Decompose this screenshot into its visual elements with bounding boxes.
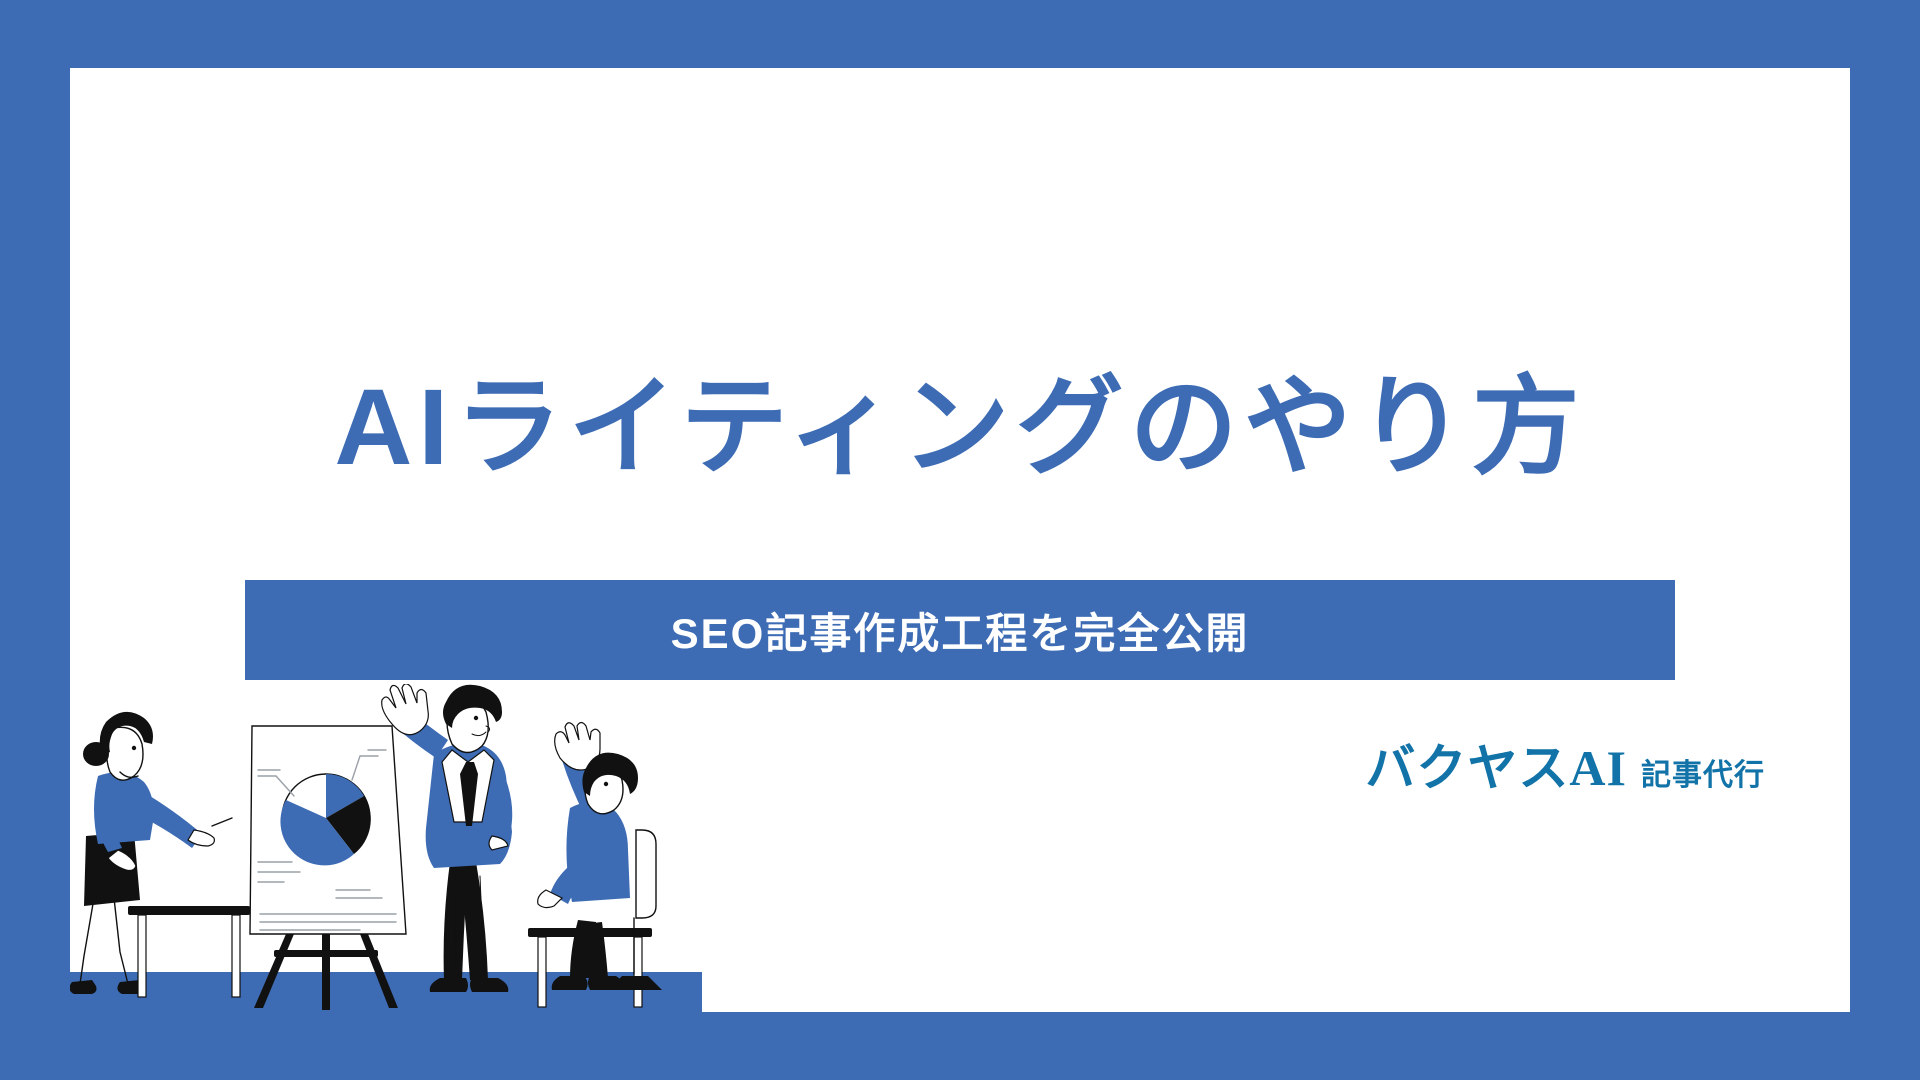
slide-panel: AIライティングのやり方 SEO記事作成工程を完全公開 バクヤスAI 記事代行 …: [70, 68, 1850, 1012]
slide-root: AIライティングのやり方 SEO記事作成工程を完全公開 バクヤスAI 記事代行 …: [0, 0, 1920, 1080]
brand-logo: バクヤスAI 記事代行: [1365, 728, 1765, 800]
figure-man-raised-hand: [382, 684, 513, 992]
figure-seated-raised-hand: [538, 723, 662, 991]
page-title: AIライティングのやり方: [70, 368, 1850, 487]
business-presentation-illustration: .bl { fill:#3D6CB5; } .ink{ fill:#111111…: [70, 684, 702, 1012]
brand-logo-name: バクヤスAI: [1365, 728, 1627, 800]
subtitle-band: SEO記事作成工程を完全公開: [245, 580, 1675, 680]
subtitle-text: SEO記事作成工程を完全公開: [671, 600, 1250, 661]
brand-logo-service: 記事代行: [1641, 750, 1765, 794]
flipchart-easel-with-pie-chart: [250, 726, 406, 1010]
figure-woman-pointing: [70, 712, 232, 994]
